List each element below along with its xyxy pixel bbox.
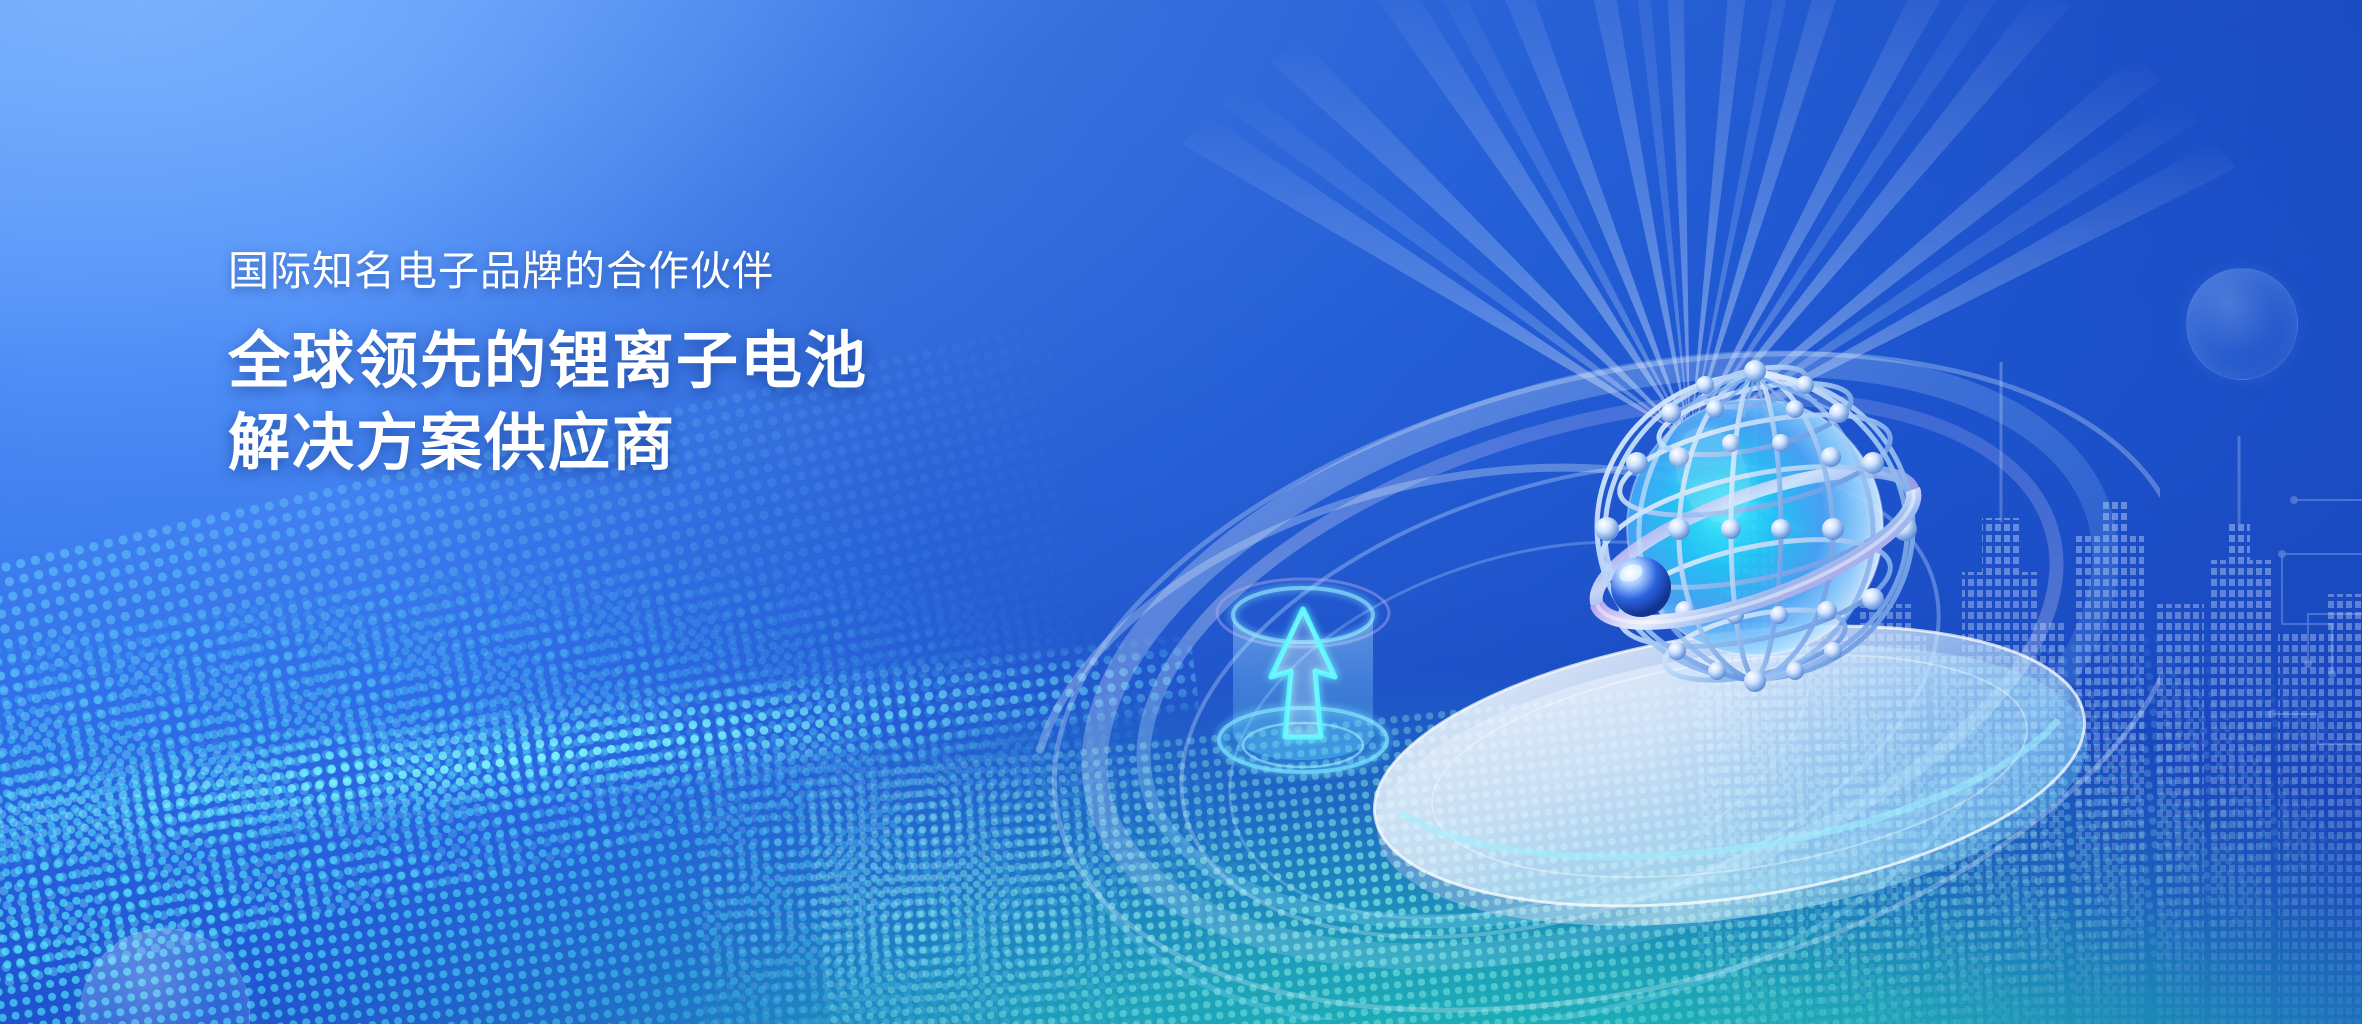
background-gradient-overlay xyxy=(0,0,2362,1024)
background-teal-glow xyxy=(0,0,2362,1024)
hero-eyebrow: 国际知名电子品牌的合作伙伴 xyxy=(228,246,1128,297)
circuit-pattern-icon xyxy=(2032,414,2362,934)
light-rays-icon xyxy=(1150,0,2300,860)
city-skyline-icon xyxy=(1662,304,2362,1024)
halftone-dot-wave-icon xyxy=(700,740,1400,1024)
hero-banner: 国际知名电子品牌的合作伙伴 全球领先的锂离子电池 解决方案供应商 xyxy=(0,0,2362,1024)
hero-headline-line-1: 全球领先的锂离子电池 xyxy=(228,321,1128,403)
hero-headline: 全球领先的锂离子电池 解决方案供应商 xyxy=(228,321,1128,485)
orbit-node-sphere-icon xyxy=(1611,557,1671,617)
orbit-ring-icon xyxy=(960,230,2160,1020)
light-cylinder-portal-icon xyxy=(1175,565,1445,795)
halftone-dot-wave-icon xyxy=(802,606,2362,1024)
hero-headline-line-2: 解决方案供应商 xyxy=(228,403,1128,485)
wireframe-globe-icon xyxy=(1545,315,1965,735)
hero-copy-block: 国际知名电子品牌的合作伙伴 全球领先的锂离子电池 解决方案供应商 xyxy=(228,246,1128,485)
background-top-left-glow xyxy=(0,0,2362,1024)
bubble-sphere-icon xyxy=(2186,268,2298,380)
bubble-sphere-icon xyxy=(80,928,250,1024)
halftone-dot-wave-icon xyxy=(0,465,1203,1024)
glass-platform-disc-icon xyxy=(1340,560,2120,980)
halftone-dot-wave-icon xyxy=(0,615,1203,885)
